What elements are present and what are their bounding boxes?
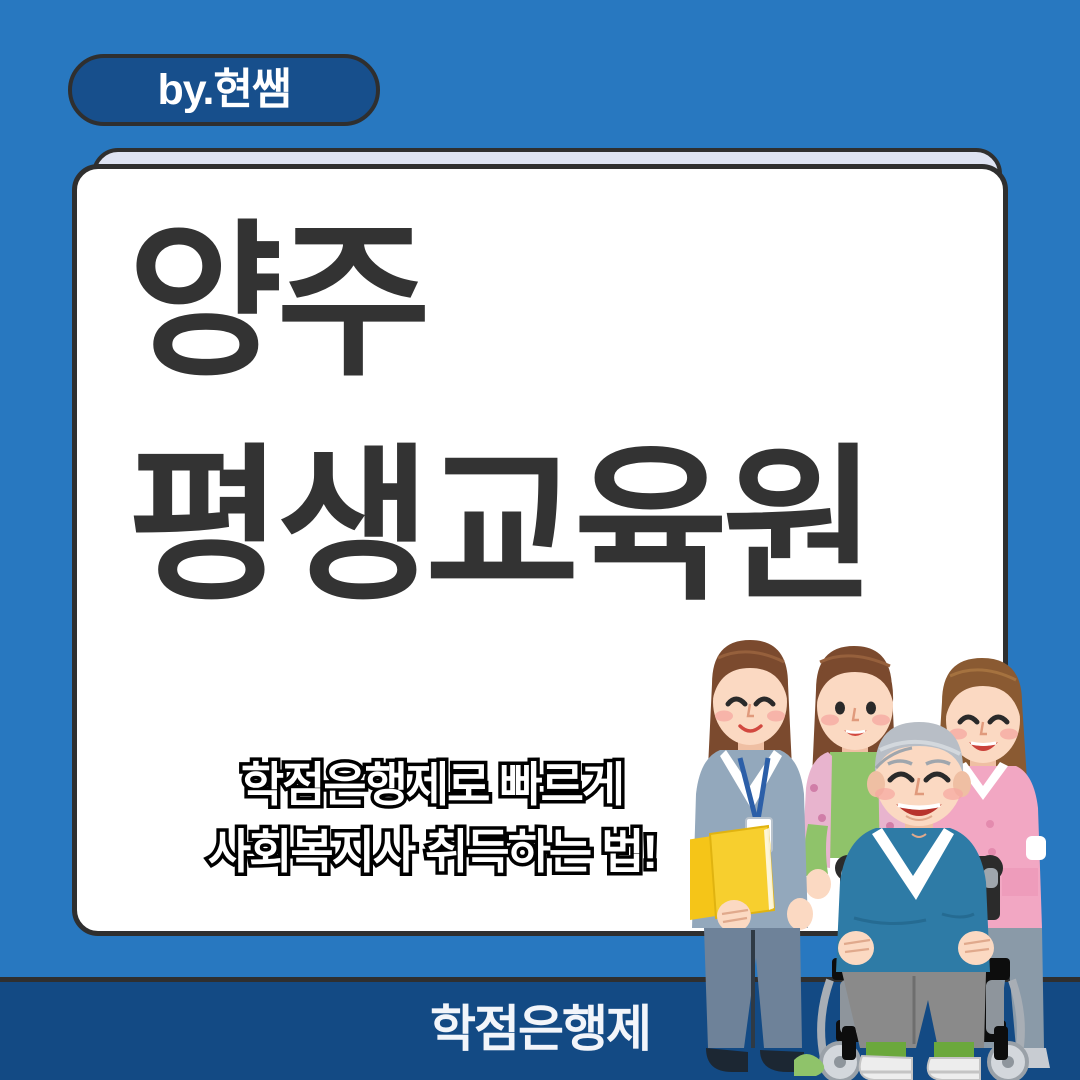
subtitle: 학점은행제로 빠르게 사회복지사 취득하는 법!: [132, 752, 732, 885]
headline-line-2: 평생교육원: [128, 442, 988, 610]
page-title: 양주 평생교육원: [128, 218, 988, 610]
subtitle-line-2: 사회복지사 취득하는 법!: [132, 819, 732, 886]
poster-canvas: by.현쌤 양주 평생교육원 학점은행제로 빠르게 사회복지사 취득하는 법! …: [0, 0, 1080, 1080]
footer-bar: 학점은행제: [0, 977, 1080, 1080]
author-badge-label: by.현쌤: [157, 69, 290, 112]
subtitle-line-1: 학점은행제로 빠르게: [132, 752, 732, 819]
author-badge: by.현쌤: [68, 54, 380, 126]
headline-line-1: 양주: [128, 218, 988, 386]
footer-label: 학점은행제: [0, 1004, 1080, 1054]
